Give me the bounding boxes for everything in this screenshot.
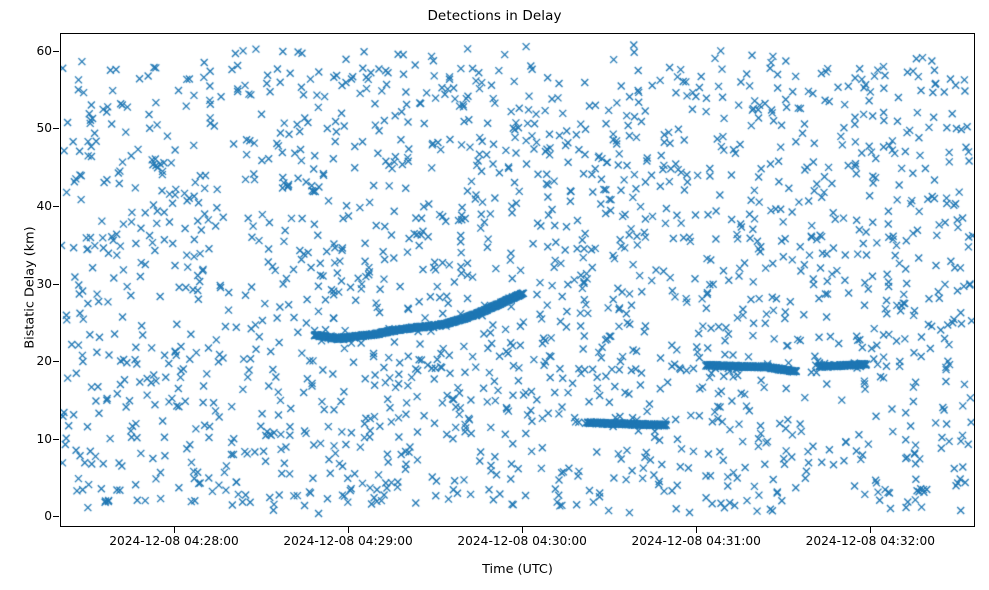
page-title: Detections in Delay [0,8,989,24]
y-tick-mark [53,51,59,52]
y-tick-mark [53,128,59,129]
x-axis-label: Time (UTC) [60,562,975,577]
y-tick-mark [53,206,59,207]
x-tick-mark [174,527,175,533]
x-tick-label: 2024-12-08 04:31:00 [596,534,796,548]
x-tick-mark [522,527,523,533]
plot-axes-area [60,33,975,527]
y-tick-mark [53,361,59,362]
y-tick-mark [53,516,59,517]
x-tick-label: 2024-12-08 04:30:00 [422,534,622,548]
y-tick-label: 10 [6,432,52,446]
y-tick-mark [53,284,59,285]
y-tick-label: 50 [6,121,52,135]
scatter-plot-canvas [61,34,974,526]
figure-container: Detections in Delay 0102030405060 2024-1… [0,0,989,590]
x-tick-mark [696,527,697,533]
x-tick-label: 2024-12-08 04:29:00 [248,534,448,548]
y-tick-label: 0 [6,509,52,523]
x-tick-mark [348,527,349,533]
y-tick-label: 60 [6,44,52,58]
x-tick-mark [870,527,871,533]
y-tick-mark [53,439,59,440]
x-tick-label: 2024-12-08 04:28:00 [74,534,274,548]
x-tick-label: 2024-12-08 04:32:00 [770,534,970,548]
y-axis-label: Bistatic Delay (km) [23,168,38,408]
